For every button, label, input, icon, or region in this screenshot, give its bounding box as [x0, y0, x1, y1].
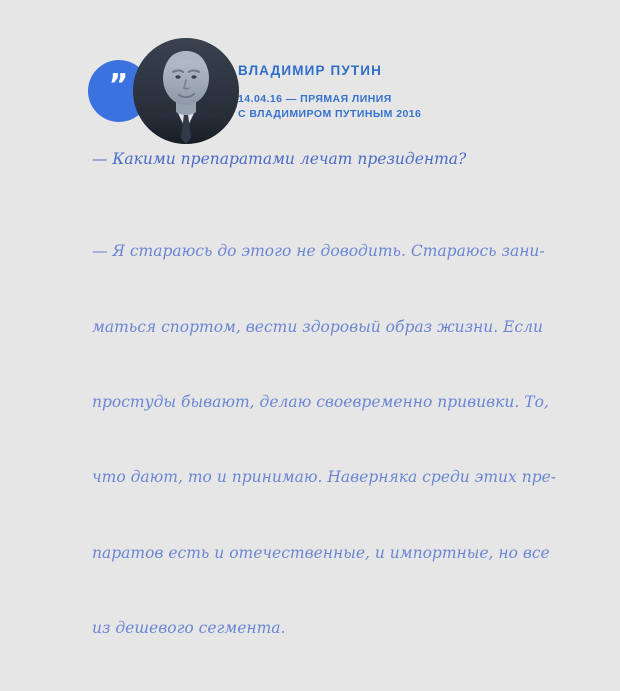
quote-card: ”: [0, 0, 620, 413]
quote-body: — Какими препаратами лечат президента? —…: [92, 148, 542, 691]
person-name: ВЛАДИМИР ПУТИН: [238, 64, 421, 79]
event-subtitle-line-1: 14.04.16 — ПРЯМАЯ ЛИНИЯ: [238, 92, 421, 107]
quote-answer-line: простуды бывают, делаю своевременно прив…: [92, 390, 542, 415]
quote-answer-line: — Я стараюсь до этого не доводить. Стара…: [92, 239, 542, 264]
event-subtitle-line-2: С ВЛАДИМИРОМ ПУТИНЫМ 2016: [238, 107, 421, 122]
avatar: [133, 38, 239, 144]
quotation-mark-glyph: ”: [109, 71, 130, 101]
event-subtitle: 14.04.16 — ПРЯМАЯ ЛИНИЯ С ВЛАДИМИРОМ ПУТ…: [238, 92, 421, 122]
quote-answer-line: маться спортом, вести здоровый образ жиз…: [92, 315, 542, 340]
badge-portrait-group: ”: [88, 38, 228, 144]
quote-answer-line: из дешевого сегмента.: [92, 616, 542, 641]
quote-answer: — Я стараюсь до этого не доводить. Стара…: [92, 189, 542, 691]
title-block: ВЛАДИМИР ПУТИН 14.04.16 — ПРЯМАЯ ЛИНИЯ С…: [238, 60, 421, 122]
quote-header: ”: [88, 38, 421, 144]
quote-question: — Какими препаратами лечат президента?: [92, 148, 542, 171]
quote-answer-line: что дают, то и принимаю. Наверняка среди…: [92, 465, 542, 490]
quote-answer-line: паратов есть и отечественные, и импортны…: [92, 541, 542, 566]
